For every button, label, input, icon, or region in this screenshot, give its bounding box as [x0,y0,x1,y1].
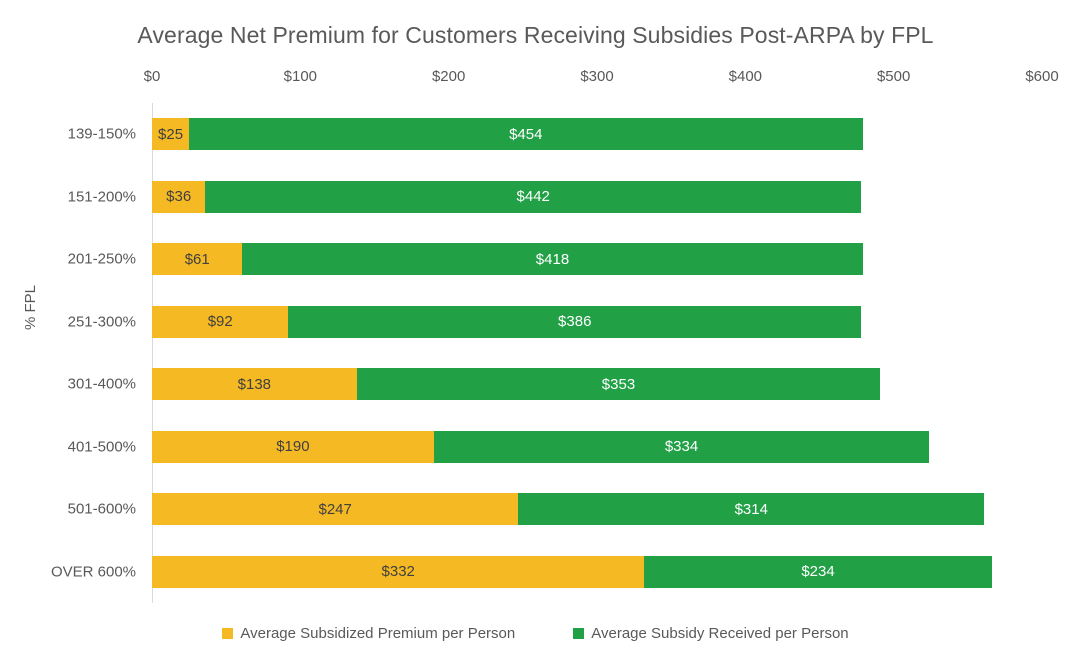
bar-value-label: $454 [509,126,542,143]
bar-row[interactable]: $247$314 [152,493,1042,525]
x-axis-tick-label: $400 [729,68,762,85]
chart-title: Average Net Premium for Customers Receiv… [0,22,1071,49]
legend-swatch [222,628,233,639]
bar-row[interactable]: $190$334 [152,431,1042,463]
bar-segment-premium[interactable]: $61 [152,243,242,275]
bar-segment-premium[interactable]: $138 [152,368,357,400]
bar-value-label: $25 [158,126,183,143]
bar-value-label: $353 [602,376,635,393]
bar-value-label: $334 [665,438,698,455]
bar-segment-subsidy[interactable]: $314 [518,493,984,525]
bar-value-label: $247 [319,501,352,518]
legend-swatch [573,628,584,639]
bar-segment-subsidy[interactable]: $386 [288,306,861,338]
bar-value-label: $234 [801,563,834,580]
bar-row[interactable]: $332$234 [152,556,1042,588]
bar-value-label: $442 [517,188,550,205]
chart-legend: Average Subsidized Premium per PersonAve… [0,625,1071,642]
bar-segment-premium[interactable]: $36 [152,181,205,213]
bar-value-label: $332 [382,563,415,580]
bar-segment-subsidy[interactable]: $353 [357,368,881,400]
bar-row[interactable]: $138$353 [152,368,1042,400]
bar-value-label: $36 [166,188,191,205]
plot-area: $25$454$36$442$61$418$92$386$138$353$190… [152,103,1042,603]
bar-segment-premium[interactable]: $332 [152,556,644,588]
x-axis-tick-label: $0 [144,68,161,85]
category-label: 301-400% [68,376,136,393]
category-label: 139-150% [68,126,136,143]
bar-segment-subsidy[interactable]: $442 [205,181,861,213]
x-axis-tick-label: $100 [284,68,317,85]
x-axis-tick-label: $500 [877,68,910,85]
category-label: OVER 600% [51,563,136,580]
category-label: 501-600% [68,501,136,518]
bar-value-label: $386 [558,313,591,330]
legend-label: Average Subsidized Premium per Person [240,625,515,642]
category-label: 251-300% [68,313,136,330]
bar-segment-subsidy[interactable]: $454 [189,118,862,150]
x-axis-tick-label: $300 [580,68,613,85]
bar-segment-subsidy[interactable]: $418 [242,243,862,275]
legend-item[interactable]: Average Subsidized Premium per Person [222,625,515,642]
bar-segment-premium[interactable]: $25 [152,118,189,150]
bar-segment-subsidy[interactable]: $234 [644,556,991,588]
x-axis-ticks: $0$100$200$300$400$500$600 [152,68,1042,94]
legend-item[interactable]: Average Subsidy Received per Person [573,625,848,642]
category-label: 201-250% [68,251,136,268]
bar-value-label: $418 [536,251,569,268]
bar-segment-premium[interactable]: $190 [152,431,434,463]
bar-value-label: $92 [208,313,233,330]
bar-segment-premium[interactable]: $247 [152,493,518,525]
bar-row[interactable]: $36$442 [152,181,1042,213]
bar-row[interactable]: $25$454 [152,118,1042,150]
x-axis-tick-label: $200 [432,68,465,85]
category-label: 401-500% [68,438,136,455]
bar-value-label: $314 [735,501,768,518]
category-label: 151-200% [68,188,136,205]
bar-row[interactable]: $61$418 [152,243,1042,275]
chart-container: Average Net Premium for Customers Receiv… [0,0,1071,666]
bar-value-label: $61 [185,251,210,268]
bar-segment-subsidy[interactable]: $334 [434,431,929,463]
bar-value-label: $190 [276,438,309,455]
x-axis-tick-label: $600 [1025,68,1058,85]
legend-label: Average Subsidy Received per Person [591,625,848,642]
bar-segment-premium[interactable]: $92 [152,306,288,338]
bar-row[interactable]: $92$386 [152,306,1042,338]
bar-value-label: $138 [238,376,271,393]
category-labels: 139-150%151-200%201-250%251-300%301-400%… [0,103,146,603]
